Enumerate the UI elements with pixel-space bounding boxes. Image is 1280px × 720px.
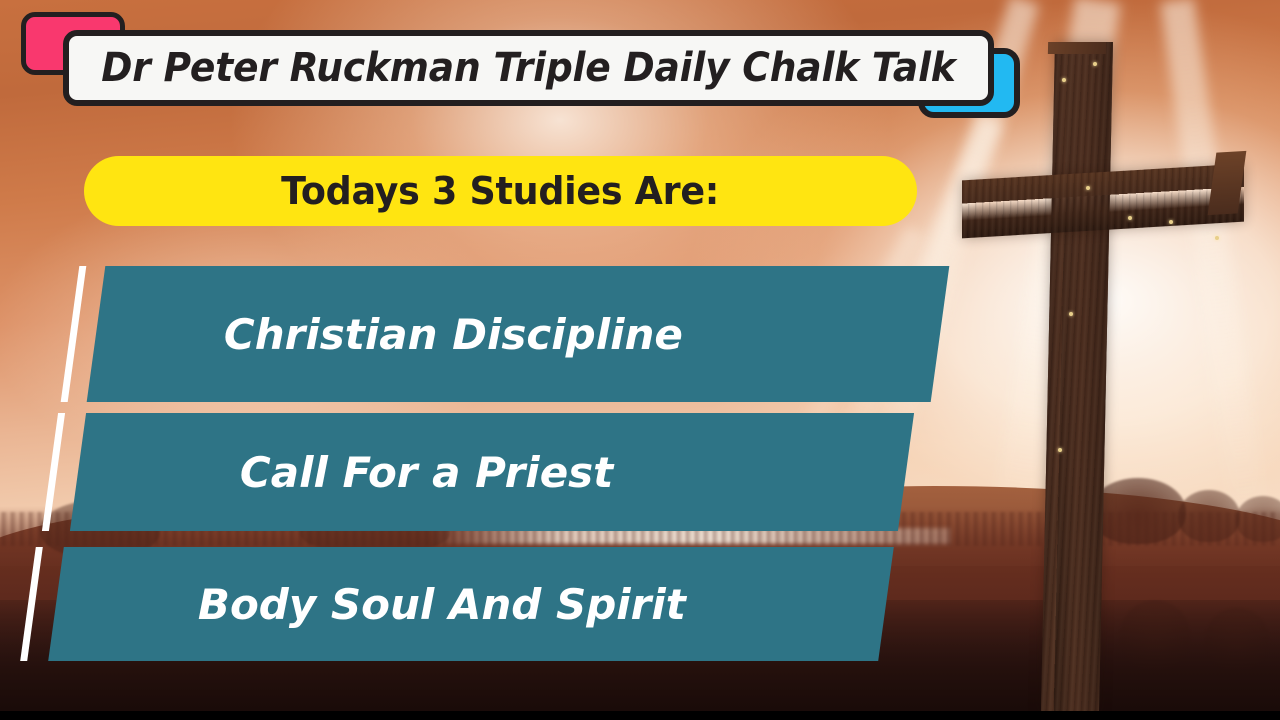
light-speck: [1062, 78, 1066, 82]
cross-horizontal-beam: [962, 164, 1244, 239]
slide-canvas: Dr Peter Ruckman Triple Daily Chalk Talk…: [0, 0, 1280, 720]
study-label: Christian Discipline: [224, 310, 683, 359]
study-list: Christian Discipline Call For a Priest B…: [0, 0, 1000, 720]
light-speck: [1169, 220, 1173, 224]
study-tick-mark: [61, 266, 87, 402]
light-speck: [1069, 312, 1073, 316]
light-speck: [1093, 62, 1097, 66]
study-tick-mark: [42, 413, 65, 531]
light-speck: [1086, 186, 1090, 190]
study-label: Call For a Priest: [240, 448, 613, 497]
light-speck: [1128, 216, 1132, 220]
study-label: Body Soul And Spirit: [198, 580, 686, 629]
wood-grain: [1041, 42, 1113, 712]
study-bar: Call For a Priest: [70, 413, 914, 531]
cross-beam-top-face: [1048, 42, 1106, 54]
study-bar: Christian Discipline: [87, 266, 950, 402]
study-bar: Body Soul And Spirit: [48, 547, 894, 661]
light-speck: [1215, 236, 1219, 240]
cross-vertical-beam: [1041, 42, 1113, 712]
light-speck: [1058, 448, 1062, 452]
study-tick-mark: [20, 547, 43, 661]
wood-grain: [962, 164, 1244, 239]
